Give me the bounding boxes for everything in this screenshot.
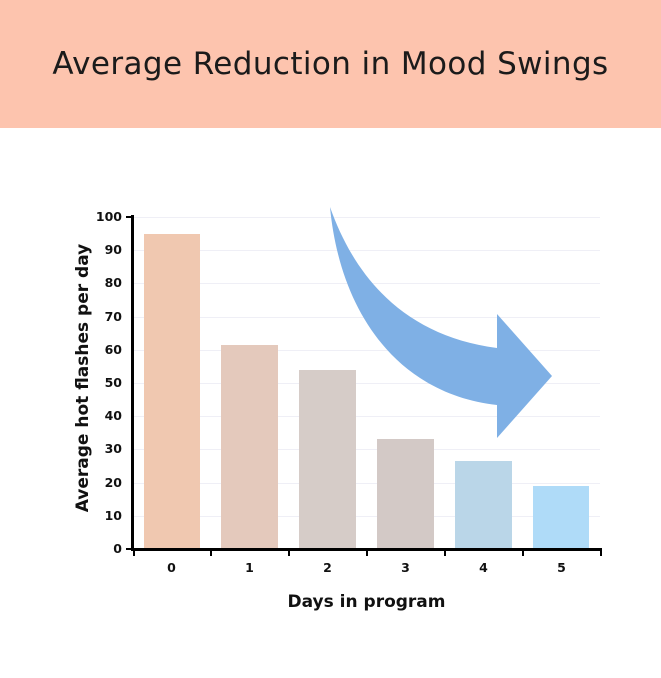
y-tick-label: 70 xyxy=(88,311,122,324)
x-tick-mark xyxy=(522,549,524,556)
gridline xyxy=(133,416,600,417)
x-tick-label: 3 xyxy=(386,560,426,575)
gridline xyxy=(133,250,600,251)
y-tick-label: 90 xyxy=(88,244,122,257)
y-tick-label: 10 xyxy=(88,510,122,523)
gridline xyxy=(133,283,600,284)
chart-title: Average Reduction in Mood Swings xyxy=(0,0,661,128)
bar-day-5[interactable] xyxy=(533,486,590,549)
y-tick-label: 0 xyxy=(88,543,122,556)
x-axis-title: Days in program xyxy=(133,592,600,612)
gridline xyxy=(133,516,600,517)
x-tick-label: 5 xyxy=(542,560,582,575)
x-tick-mark xyxy=(600,549,602,556)
bar-day-4[interactable] xyxy=(455,461,512,549)
bar-day-2[interactable] xyxy=(299,370,356,549)
gridline xyxy=(133,217,600,218)
y-tick-label: 80 xyxy=(88,277,122,290)
y-tick-mark xyxy=(126,216,132,218)
bar-day-0[interactable] xyxy=(144,234,201,549)
x-tick-label: 2 xyxy=(308,560,348,575)
gridline xyxy=(133,483,600,484)
y-tick-label: 50 xyxy=(88,377,122,390)
y-tick-label: 100 xyxy=(88,211,122,224)
x-tick-mark xyxy=(210,549,212,556)
gridline xyxy=(133,383,600,384)
x-tick-mark xyxy=(444,549,446,556)
y-axis-line xyxy=(131,215,134,551)
x-tick-mark xyxy=(288,549,290,556)
y-tick-label: 40 xyxy=(88,410,122,423)
x-tick-mark xyxy=(133,549,135,556)
plot-area xyxy=(133,217,600,549)
x-tick-label: 0 xyxy=(152,560,192,575)
gridline xyxy=(133,317,600,318)
x-tick-mark xyxy=(366,549,368,556)
x-tick-label: 4 xyxy=(464,560,504,575)
bar-day-1[interactable] xyxy=(221,345,278,549)
y-tick-mark xyxy=(126,548,132,550)
gridline xyxy=(133,350,600,351)
y-tick-label: 30 xyxy=(88,443,122,456)
y-tick-label: 60 xyxy=(88,344,122,357)
x-tick-label: 1 xyxy=(230,560,270,575)
y-tick-label: 20 xyxy=(88,477,122,490)
bar-day-3[interactable] xyxy=(377,439,434,549)
chart-figure: 100 90 80 70 60 50 40 30 20 10 0 0 1 2 3… xyxy=(0,128,661,678)
y-axis-title: Average hot flashes per day xyxy=(73,233,93,523)
title-banner: Average Reduction in Mood Swings xyxy=(0,0,661,128)
gridline xyxy=(133,449,600,450)
